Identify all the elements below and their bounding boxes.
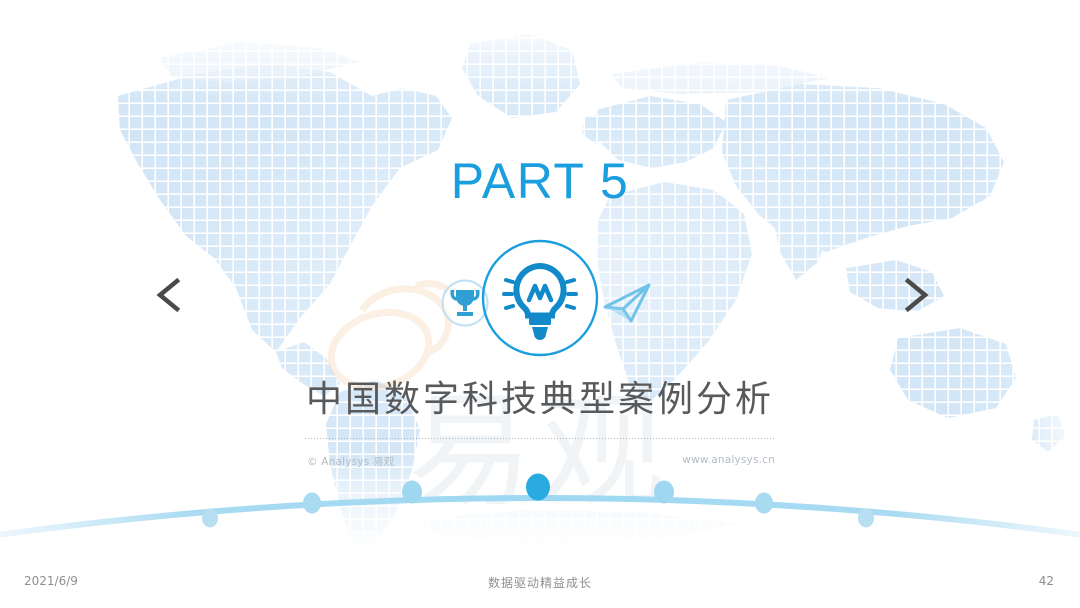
part-label: PART 5: [0, 152, 1080, 210]
chevron-right-icon[interactable]: [890, 270, 940, 320]
progress-dot[interactable]: [202, 509, 218, 528]
dotted-divider: [305, 438, 775, 439]
progress-dot[interactable]: [654, 481, 674, 504]
paper-plane-icon: [598, 276, 656, 330]
chevron-left-icon[interactable]: [145, 270, 195, 320]
progress-dot[interactable]: [402, 481, 422, 504]
progress-dot[interactable]: [303, 493, 321, 514]
slide-canvas: 易观 PART 5: [0, 0, 1080, 608]
progress-dot[interactable]: [858, 509, 874, 528]
page-number: 42: [1039, 574, 1054, 588]
lightbulb-icon: [480, 238, 600, 358]
footer-slogan: 数据驱动精益成长: [0, 574, 1080, 591]
website-credit[interactable]: www.analysys.cn: [0, 454, 775, 466]
progress-arc: [0, 466, 1080, 546]
progress-dot[interactable]: [755, 493, 773, 514]
slide-footer: 2021/6/9 数据驱动精益成长 42: [0, 560, 1080, 608]
icon-cluster: [420, 234, 670, 354]
progress-dot-active[interactable]: [526, 474, 550, 501]
page-title: 中国数字科技典型案例分析: [0, 370, 1080, 422]
